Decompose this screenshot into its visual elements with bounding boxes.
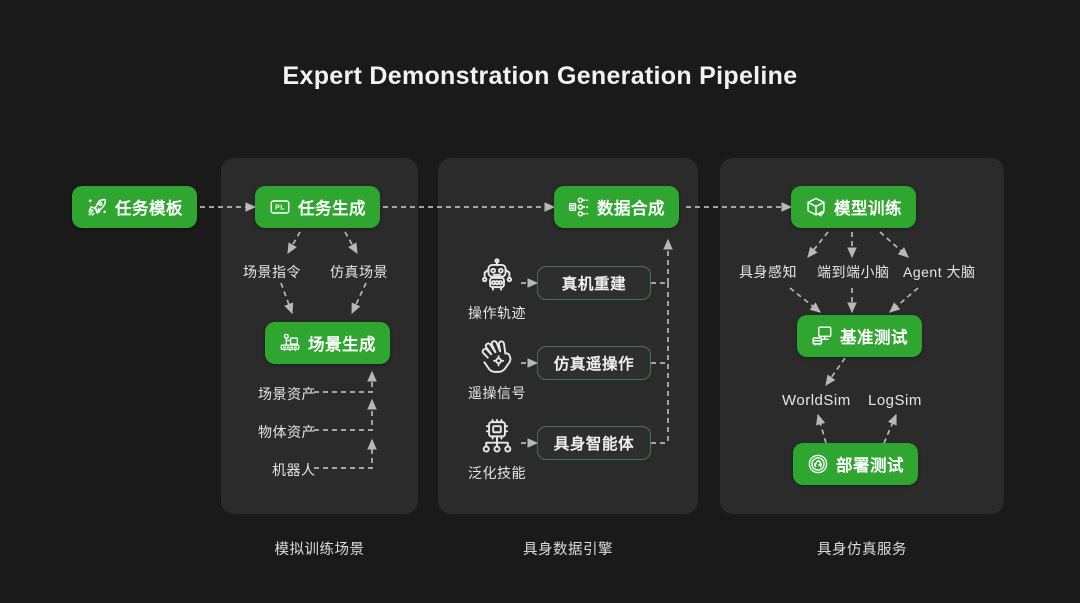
data-merge-icon bbox=[568, 196, 590, 218]
svg-text:PL: PL bbox=[275, 204, 285, 211]
label-teleop-signal: 遥操信号 bbox=[468, 383, 526, 403]
node-label: 任务生成 bbox=[298, 195, 366, 219]
label-object-assets: 物体资产 bbox=[258, 422, 316, 442]
node-label: 基准测试 bbox=[840, 324, 908, 348]
pl-badge-icon: PL bbox=[269, 196, 291, 218]
label-worldsim: WorldSim bbox=[782, 392, 851, 409]
node-benchmark-test[interactable]: 基准测试 bbox=[797, 315, 922, 357]
label-embodied-sense: 具身感知 bbox=[739, 262, 797, 282]
label-generalize-skill: 泛化技能 bbox=[468, 463, 526, 483]
label-e2e-cerebellum: 端到端小脑 bbox=[817, 262, 890, 282]
label-scene-instruction: 场景指令 bbox=[243, 262, 301, 282]
monitor-chart-icon bbox=[811, 325, 833, 347]
node-model-training[interactable]: 模型训练 bbox=[791, 186, 916, 228]
pipeline-diagram: Expert Demonstration Generation Pipeline bbox=[0, 0, 1080, 603]
node-task-template[interactable]: 任务模板 bbox=[72, 186, 197, 228]
node-label: 任务模板 bbox=[115, 195, 183, 219]
box-embodied-agent[interactable]: 具身智能体 bbox=[537, 426, 651, 460]
box-sim-teleoperation[interactable]: 仿真遥操作 bbox=[537, 346, 651, 380]
label-logsim: LogSim bbox=[868, 392, 922, 409]
node-scene-generation[interactable]: 场景生成 bbox=[265, 322, 390, 364]
caption-embodied-sim-service: 具身仿真服务 bbox=[720, 538, 1004, 559]
caption-embodied-data-engine: 具身数据引擎 bbox=[438, 538, 698, 559]
box-real-machine-rebuild[interactable]: 真机重建 bbox=[537, 266, 651, 300]
label-scene-assets: 场景资产 bbox=[258, 384, 316, 404]
data-glove-icon bbox=[478, 338, 516, 376]
robot-icon bbox=[478, 258, 516, 296]
node-deploy-test[interactable]: 部署测试 bbox=[793, 443, 918, 485]
node-data-synthesis[interactable]: 数据合成 bbox=[554, 186, 679, 228]
label-robot: 机器人 bbox=[272, 460, 316, 480]
chip-network-icon bbox=[478, 418, 516, 456]
scene-robot-icon bbox=[279, 332, 301, 354]
node-label: 模型训练 bbox=[834, 195, 902, 219]
rocket-icon bbox=[86, 196, 108, 218]
cube-loop-icon bbox=[805, 196, 827, 218]
label-operation-track: 操作轨迹 bbox=[468, 303, 526, 323]
page-title: Expert Demonstration Generation Pipeline bbox=[0, 62, 1080, 91]
node-label: 部署测试 bbox=[836, 452, 904, 476]
label-agent-brain: Agent 大脑 bbox=[903, 262, 975, 282]
swirl-circle-icon bbox=[807, 453, 829, 475]
node-label: 场景生成 bbox=[308, 331, 376, 355]
node-label: 数据合成 bbox=[597, 195, 665, 219]
caption-sim-training-scene: 模拟训练场景 bbox=[221, 538, 418, 559]
node-task-generation[interactable]: PL 任务生成 bbox=[255, 186, 380, 228]
label-sim-scene: 仿真场景 bbox=[330, 262, 388, 282]
